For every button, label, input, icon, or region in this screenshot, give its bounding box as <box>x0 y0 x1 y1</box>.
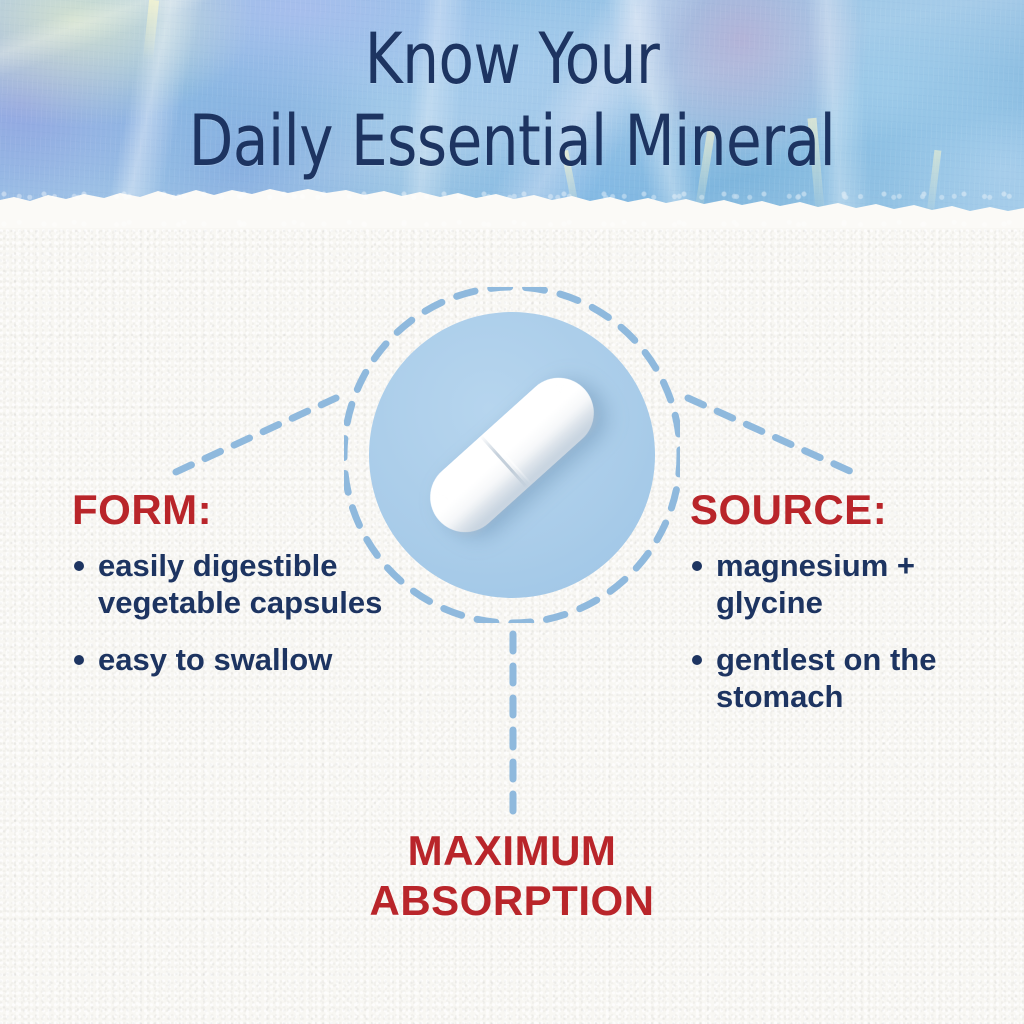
source-heading: SOURCE: <box>690 487 1010 533</box>
list-item-label: gentlest on the stomach <box>716 642 936 714</box>
page-title: Know Your Daily Essential Mineral <box>41 18 983 182</box>
bullet-dot-icon <box>74 655 84 665</box>
capsule-container <box>369 312 655 598</box>
capsule-icon <box>416 363 608 546</box>
infographic-page: Know Your Daily Essential Mineral <box>0 0 1024 1024</box>
connector-left <box>176 398 336 472</box>
list-item: easily digestible vegetable capsules <box>72 547 402 621</box>
form-block: FORM: easily digestible vegetable capsul… <box>72 487 402 678</box>
bullet-dot-icon <box>74 561 84 571</box>
bullet-dot-icon <box>692 655 702 665</box>
source-bullet-list: magnesium + glycine gentlest on the stom… <box>690 547 1010 715</box>
torn-paper-edge <box>0 184 1024 228</box>
header-banner: Know Your Daily Essential Mineral <box>0 0 1024 228</box>
absorption-heading: MAXIMUM ABSORPTION <box>0 826 1024 926</box>
absorption-block: MAXIMUM ABSORPTION <box>0 826 1024 926</box>
connector-right <box>688 398 852 472</box>
list-item: magnesium + glycine <box>690 547 1010 621</box>
form-bullet-list: easily digestible vegetable capsules eas… <box>72 547 402 678</box>
source-block: SOURCE: magnesium + glycine gentlest on … <box>690 487 1010 715</box>
list-item: gentlest on the stomach <box>690 641 1010 715</box>
form-heading: FORM: <box>72 487 402 533</box>
list-item-label: easy to swallow <box>98 642 332 677</box>
list-item-label: easily digestible vegetable capsules <box>98 548 382 620</box>
list-item-label: magnesium + glycine <box>716 548 915 620</box>
bullet-dot-icon <box>692 561 702 571</box>
list-item: easy to swallow <box>72 641 402 678</box>
